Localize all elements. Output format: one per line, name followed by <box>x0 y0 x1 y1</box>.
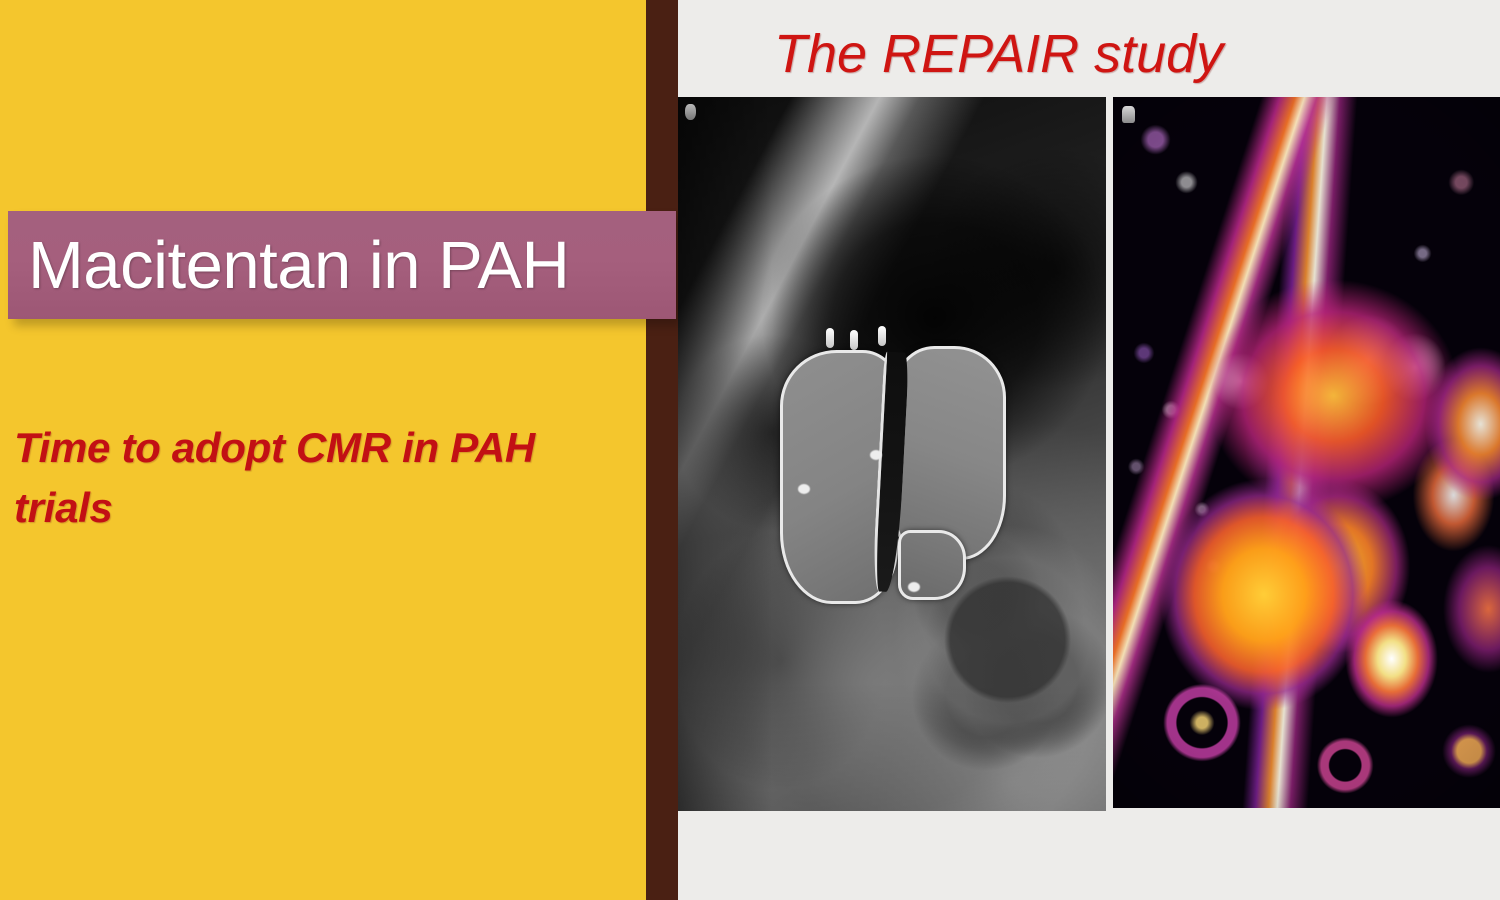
color-perfusion-mri-image <box>1113 97 1500 808</box>
accent-brown-strip <box>646 0 678 900</box>
study-heading: The REPAIR study <box>774 27 1223 81</box>
grayscale-cardiac-mri-image <box>678 97 1106 811</box>
mri-vignette <box>678 97 1106 811</box>
page-title: Macitentan in PAH <box>8 232 569 299</box>
subtitle-text: Time to adopt CMR in PAH trials <box>14 418 574 537</box>
perfusion-vignette <box>1113 97 1500 808</box>
mri-scanner-corner-marker-icon <box>685 104 696 120</box>
slide-root: Macitentan in PAH Time to adopt CMR in P… <box>0 0 1500 900</box>
perfusion-scanner-corner-marker-icon <box>1122 106 1135 123</box>
title-banner: Macitentan in PAH <box>8 211 676 319</box>
right-content-area: The REPAIR study <box>678 0 1500 900</box>
